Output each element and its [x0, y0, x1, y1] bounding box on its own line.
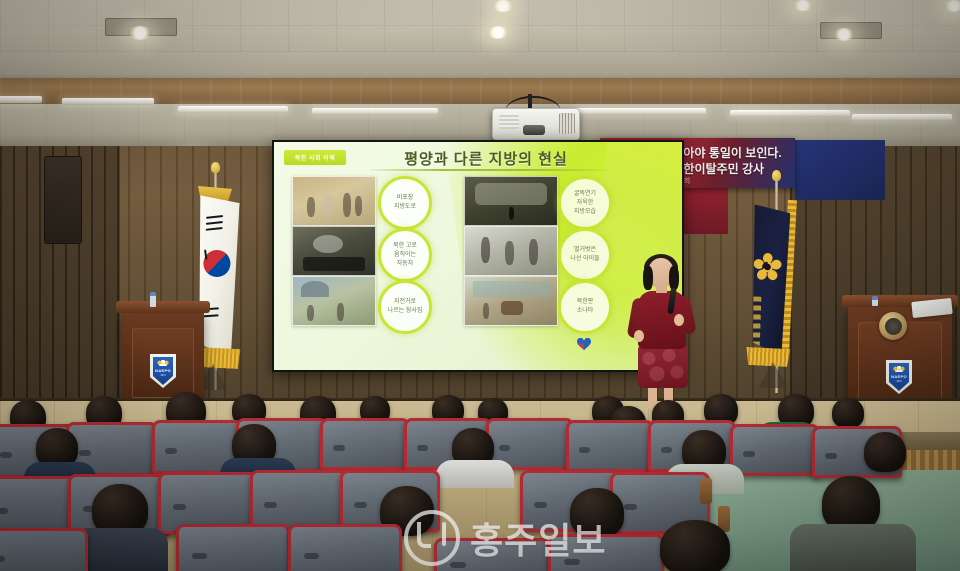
naepo-emblem-label: NAEPO — [155, 368, 171, 373]
slide-section-tag-label: 북한 사회 이해 — [295, 153, 335, 162]
downlight-icon — [492, 0, 514, 12]
bubble-line: 지전거로 — [394, 298, 416, 307]
audience-head — [570, 488, 624, 538]
bubble-line: 지방도로 — [394, 203, 416, 212]
auditorium-seat[interactable] — [730, 424, 820, 476]
tube-light-icon — [312, 108, 438, 115]
downlight-icon — [833, 28, 855, 41]
speaker — [630, 258, 696, 408]
flag-finial-icon — [211, 162, 220, 173]
mugunghwa-emblem-icon — [753, 252, 782, 281]
bubble-line: 비포장 — [397, 194, 414, 203]
wall-speaker-box — [44, 156, 82, 244]
bubble-line: 움직이는 — [394, 251, 416, 260]
photo-scene: 을 알아야 통일이 보인다. 도 북한이탈주민 강사 성군협의회 북한 사회 이… — [0, 0, 960, 571]
naepo-dots-icon — [157, 360, 169, 366]
speaker-hand-left — [634, 330, 644, 342]
slide-section-tag: 북한 사회 이해 — [284, 150, 346, 165]
auditorium-seat[interactable] — [320, 418, 410, 470]
slide-photo — [464, 226, 558, 276]
naepo-emblem-label: NAEPO — [891, 374, 907, 379]
flag-stand-right — [758, 362, 788, 388]
auditorium-seat[interactable] — [176, 524, 290, 571]
slide-photo — [292, 226, 376, 276]
bubble-line: 굴뚝연기 — [574, 190, 596, 199]
speaker-skirt — [638, 346, 688, 388]
audience-shoulders — [790, 524, 916, 571]
speaker-hand-right — [674, 314, 684, 326]
bubble-line: 북한판 — [577, 298, 594, 307]
ceiling-projector — [492, 108, 580, 140]
slide-bubble: 벌거벗은 나선 아이들 — [558, 228, 612, 282]
ceiling-upper-band — [0, 52, 960, 78]
bubble-line: 북한 고로 — [393, 242, 417, 251]
bubble-line: 소나타 — [577, 307, 594, 316]
projector-lens-icon — [523, 125, 545, 135]
naepo-emblem-year: 1972 — [896, 380, 901, 383]
slide-photo — [464, 276, 558, 326]
projector-panel — [499, 115, 519, 129]
tube-light-icon — [576, 108, 706, 115]
naepo-emblem-year: 1972 — [160, 374, 165, 377]
slide-photo — [292, 176, 376, 226]
auditorium-seat[interactable] — [250, 470, 350, 532]
slide-title: 평양과 다른 지방의 현실 — [366, 148, 606, 169]
tube-light-icon — [0, 96, 42, 103]
auditorium-seat[interactable] — [548, 534, 664, 571]
water-bottle[interactable] — [150, 292, 156, 307]
slide-bubble: 굴뚝연기 자욱한 지방모습 — [558, 176, 612, 230]
naepo-shield-inner: NAEPO 1972 — [153, 357, 173, 385]
auditorium-seat[interactable] — [434, 538, 550, 571]
seat-armrest — [700, 478, 712, 504]
auditorium-seat[interactable] — [0, 528, 88, 571]
tube-light-icon — [62, 98, 154, 105]
slide-photo — [292, 276, 376, 326]
podium-top-left — [116, 301, 210, 313]
downlight-icon — [128, 26, 152, 40]
bubble-line: 나선 아이들 — [570, 255, 599, 264]
bubble-line: 자욱한 — [577, 199, 594, 208]
banner-blue-panel — [795, 140, 885, 200]
slide-bubble: 북한판 소나타 — [558, 280, 612, 334]
audience-shoulders — [436, 460, 514, 488]
flag-finial-icon — [772, 170, 781, 181]
audience-head — [864, 432, 906, 472]
audience-head — [832, 398, 864, 428]
bubble-line: 지방모습 — [574, 208, 596, 217]
bubble-line: 자동차 — [397, 260, 414, 269]
naepo-shield-inner: NAEPO 1972 — [889, 363, 909, 391]
tube-light-icon — [730, 110, 850, 117]
auditorium-seat[interactable] — [288, 524, 402, 571]
slide-bubble: 비포장 지방도로 — [378, 176, 432, 230]
bubble-line: 나르는 장사짐 — [388, 307, 423, 316]
bubble-line: 벌거벗은 — [574, 246, 596, 255]
projection-screen-frame: 북한 사회 이해 평양과 다른 지방의 현실 — [272, 140, 684, 372]
podium-medallion-icon — [879, 312, 907, 340]
slide-bubble: 북한 고로 움직이는 자동차 — [378, 228, 432, 282]
projection-screen: 북한 사회 이해 평양과 다른 지방의 현실 — [274, 142, 682, 370]
downlight-icon — [944, 0, 960, 12]
slide-title-underline — [370, 169, 608, 171]
auditorium-seat[interactable] — [566, 420, 654, 472]
speaker-hair-side — [669, 266, 679, 290]
audience-head — [660, 520, 730, 571]
downlight-icon — [793, 0, 813, 11]
speaker-hair-side — [643, 266, 653, 290]
projector-vent — [559, 113, 575, 134]
water-bottle[interactable] — [872, 296, 878, 306]
tube-light-icon — [852, 114, 952, 121]
slide-photo — [464, 176, 558, 226]
slide-bubble: 지전거로 나르는 장사짐 — [378, 280, 432, 334]
tube-light-icon — [178, 106, 288, 113]
heart-logo-icon — [577, 338, 591, 351]
downlight-icon — [487, 26, 509, 39]
naepo-dots-icon — [893, 366, 905, 372]
